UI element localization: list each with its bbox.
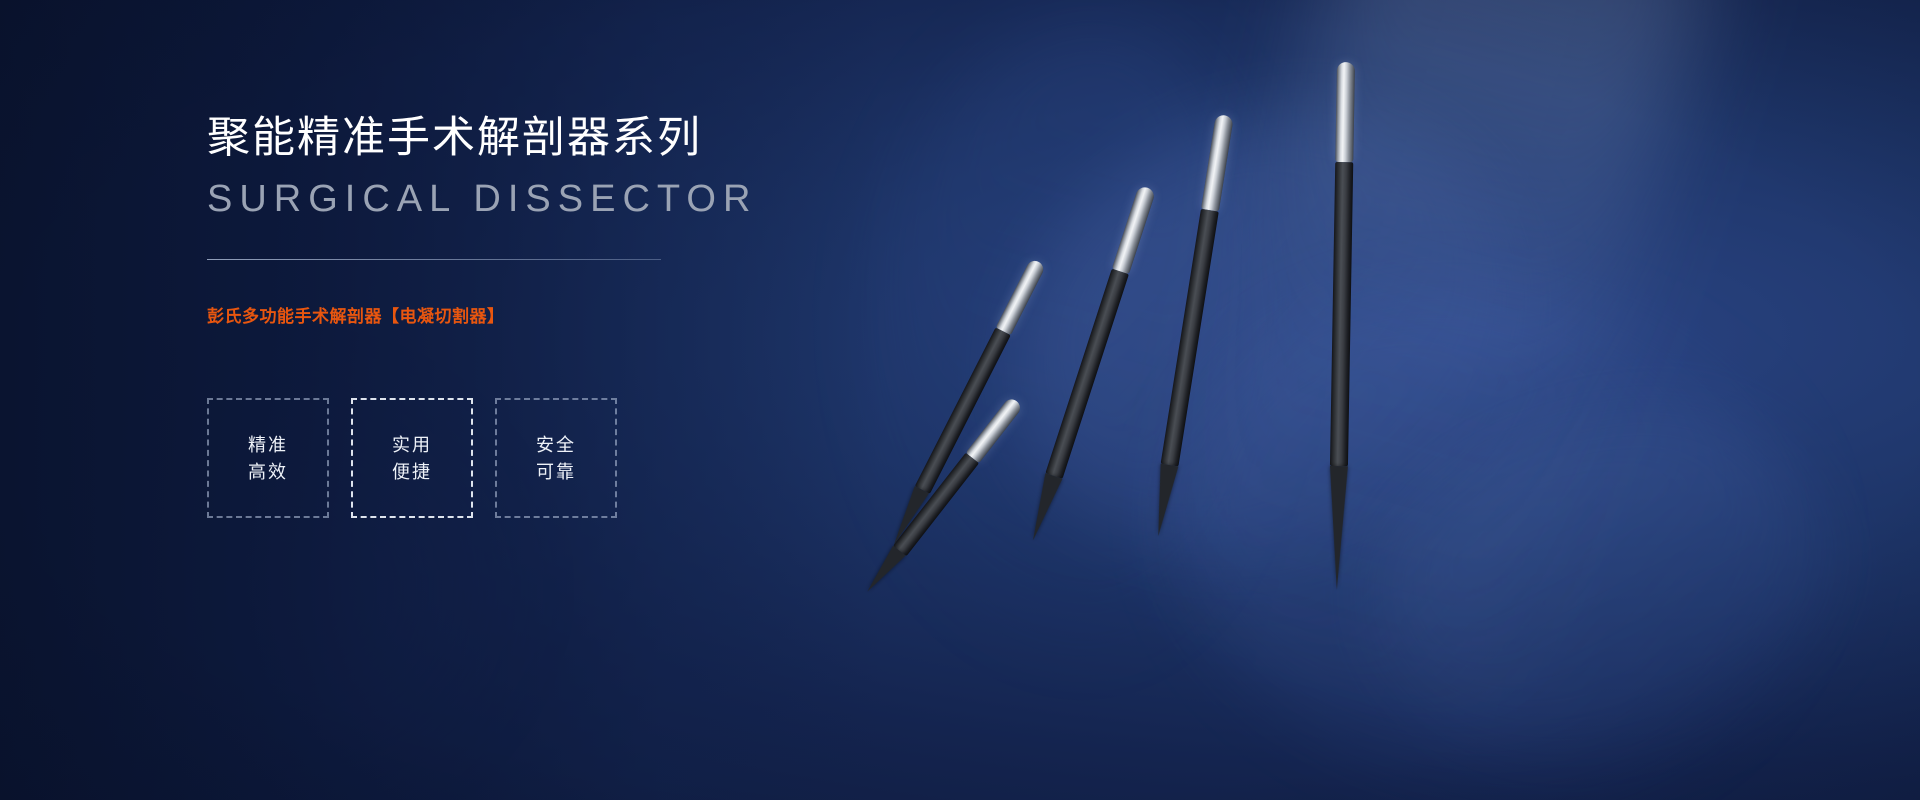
feature-line-1: 实用 — [392, 436, 432, 454]
instrument-shaft — [1330, 162, 1353, 466]
instrument-handle — [996, 258, 1047, 335]
page-title: 聚能精准手术解剖器系列 — [207, 112, 967, 166]
feature-box-practical: 实用 便捷 — [351, 398, 473, 518]
instrument-tip — [1328, 466, 1348, 590]
hero-text-block: 聚能精准手术解剖器系列 SURGICAL DISSECTOR 彭氏多功能手术解剖… — [207, 112, 967, 518]
instrument-handle — [1201, 114, 1234, 212]
feature-box-safety: 安全 可靠 — [495, 398, 617, 518]
feature-box-precision: 精准 高效 — [207, 398, 329, 518]
feature-line-2: 高效 — [248, 463, 288, 481]
instrument-tip — [1024, 473, 1062, 543]
product-hero-banner: 聚能精准手术解剖器系列 SURGICAL DISSECTOR 彭氏多功能手术解剖… — [0, 0, 1920, 800]
feature-line-1: 安全 — [536, 436, 576, 454]
instrument-handle — [1335, 62, 1355, 162]
feature-line-2: 可靠 — [536, 463, 576, 481]
feature-line-1: 精准 — [248, 436, 288, 454]
page-subtitle-english: SURGICAL DISSECTOR — [207, 176, 967, 224]
feature-line-2: 便捷 — [392, 463, 432, 481]
instrument-handle — [1112, 185, 1156, 274]
instrument-shaft — [1045, 269, 1129, 479]
feature-box-group: 精准 高效 实用 便捷 安全 可靠 — [207, 398, 967, 518]
title-divider — [207, 259, 661, 260]
instrument-tip — [1149, 464, 1178, 538]
instrument-shaft — [1161, 209, 1219, 467]
product-name-label: 彭氏多功能手术解剖器【电凝切割器】 — [207, 302, 967, 327]
instrument-tip — [861, 546, 906, 597]
